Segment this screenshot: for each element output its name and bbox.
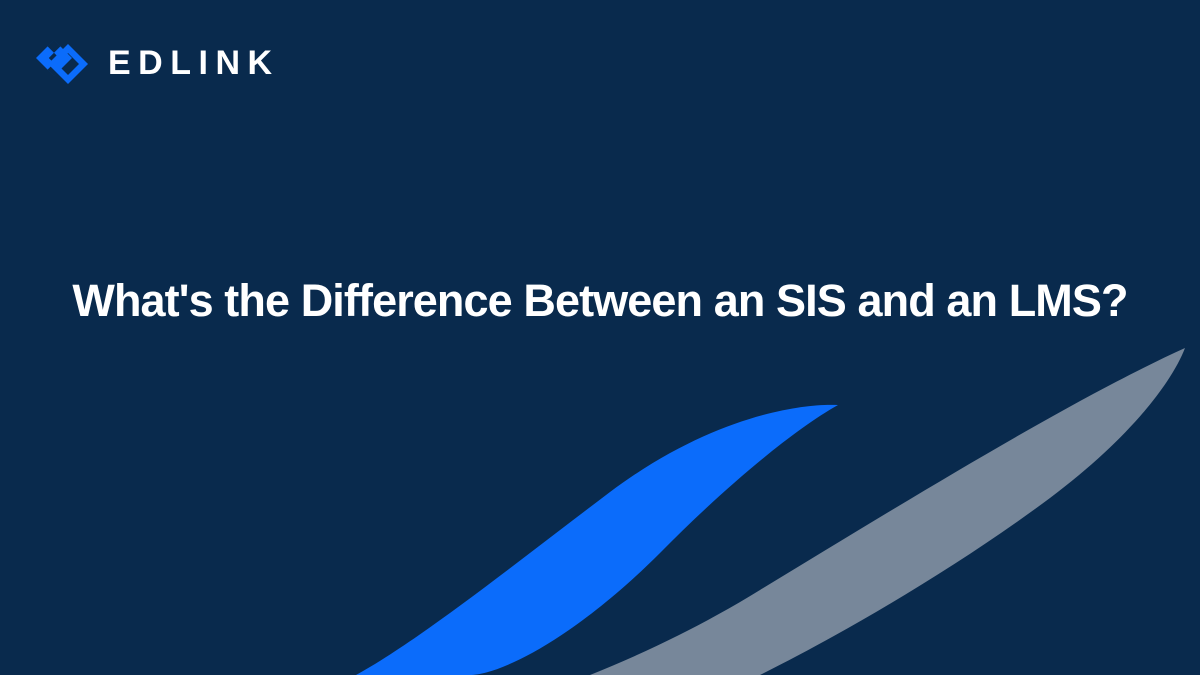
blue-blade-shape [356, 405, 838, 675]
logo-diamond-right-icon [48, 44, 88, 84]
decorative-blades [0, 0, 1200, 675]
title-block: What's the Difference Between an SIS and… [0, 274, 1200, 327]
article-title-card: EDLINK What's the Difference Between an … [0, 0, 1200, 675]
edlink-wordmark: EDLINK [108, 44, 280, 80]
edlink-logo[interactable]: EDLINK [34, 36, 280, 88]
edlink-double-diamond-mark [34, 36, 90, 88]
gray-blade-shape [590, 348, 1185, 675]
page-title: What's the Difference Between an SIS and… [72, 274, 1127, 327]
